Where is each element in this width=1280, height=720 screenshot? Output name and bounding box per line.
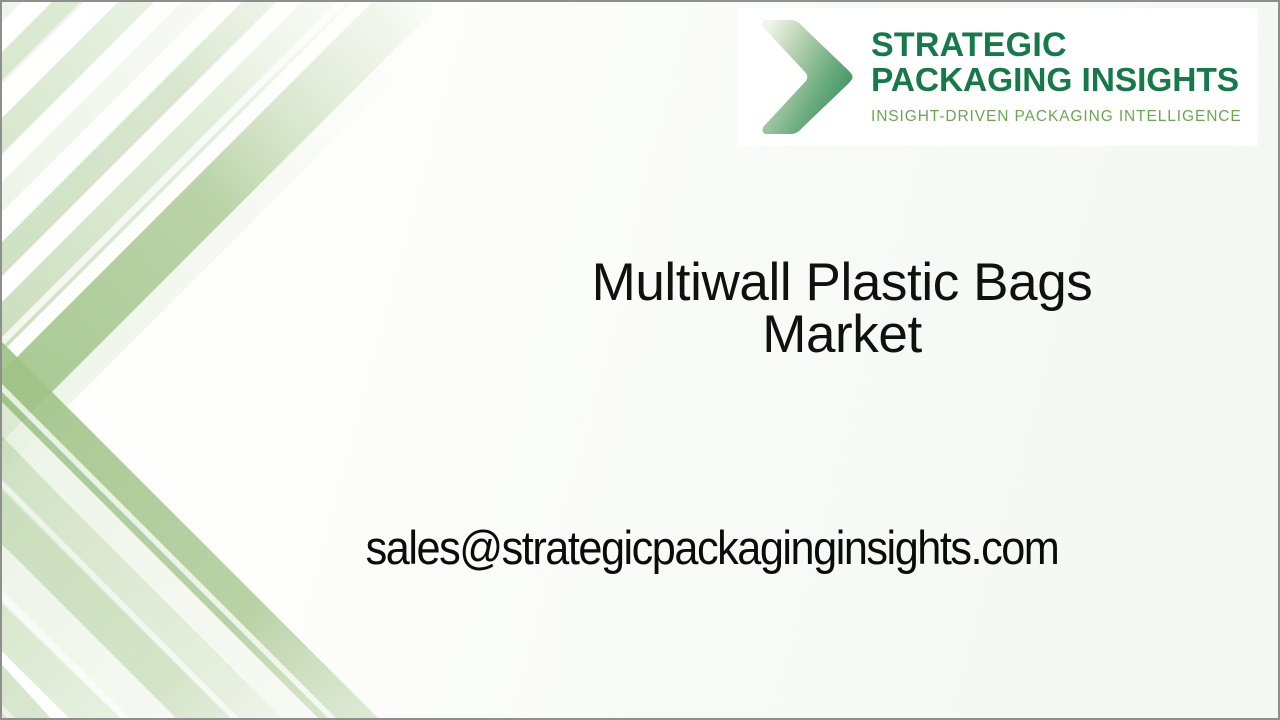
chevron-bands-decoration [2, 2, 472, 720]
company-logo: STRATEGIC PACKAGING INSIGHTS INSIGHT-DRI… [737, 8, 1258, 146]
logo-tagline: INSIGHT-DRIVEN PACKAGING INTELLIGENCE [871, 108, 1256, 126]
presentation-slide: STRATEGIC PACKAGING INSIGHTS INSIGHT-DRI… [0, 0, 1280, 720]
slide-title: Multiwall Plastic Bags Market [472, 257, 1212, 361]
wordmark-line-1: STRATEGIC [871, 28, 1256, 63]
wordmark-line-2: PACKAGING INSIGHTS [871, 63, 1256, 98]
contact-email: sales@strategicpackaginginsights.com [224, 520, 1199, 576]
chevron-arrow-mark [747, 16, 865, 138]
logo-wordmark: STRATEGIC PACKAGING INSIGHTS INSIGHT-DRI… [865, 28, 1258, 126]
